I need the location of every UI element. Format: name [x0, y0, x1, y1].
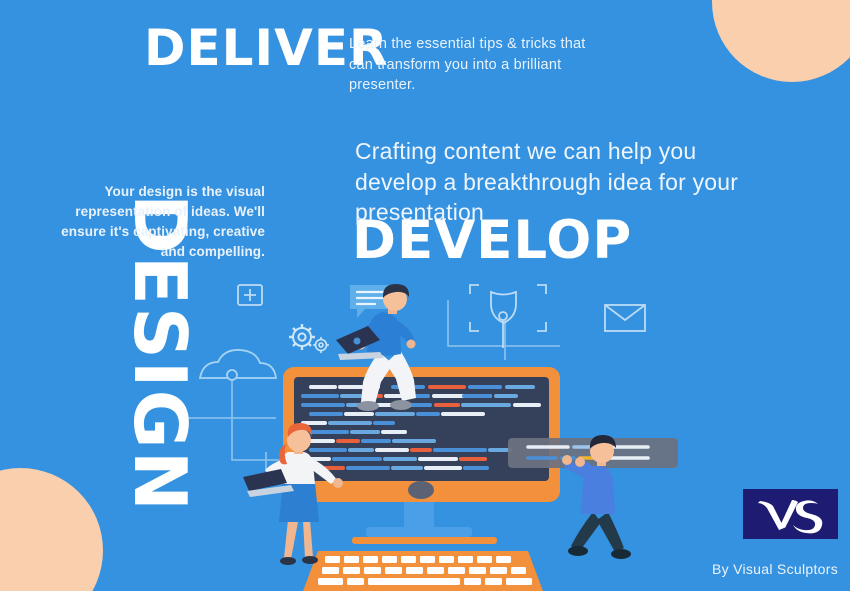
paragraph-middle: Crafting content we can help you develop…: [355, 136, 755, 228]
keyboard-top-bar: [352, 537, 497, 544]
small-gear-icon: [313, 337, 329, 353]
brand-credit: By Visual Sculptors: [712, 561, 838, 577]
plus-box-icon: [238, 285, 262, 305]
vs-monogram-icon: [754, 494, 828, 534]
shield-icon: [470, 285, 546, 348]
paragraph-left: Your design is the visual representation…: [60, 182, 265, 262]
envelope-icon: [605, 305, 645, 331]
keyboard-illustration: [303, 537, 543, 591]
paragraph-top: Learn the essential tips & tricks that c…: [349, 34, 611, 96]
monitor-stand-base: [366, 527, 472, 537]
cloud-icon: [200, 350, 276, 380]
visual-sculptors-logo: [743, 489, 838, 539]
poster-canvas: DESIGN DELIVER DEVELOP Learn the essenti…: [0, 0, 850, 591]
monitor-logo-dot: [408, 481, 434, 499]
gear-icon: [289, 324, 315, 350]
monitor-stand-neck: [404, 500, 434, 528]
